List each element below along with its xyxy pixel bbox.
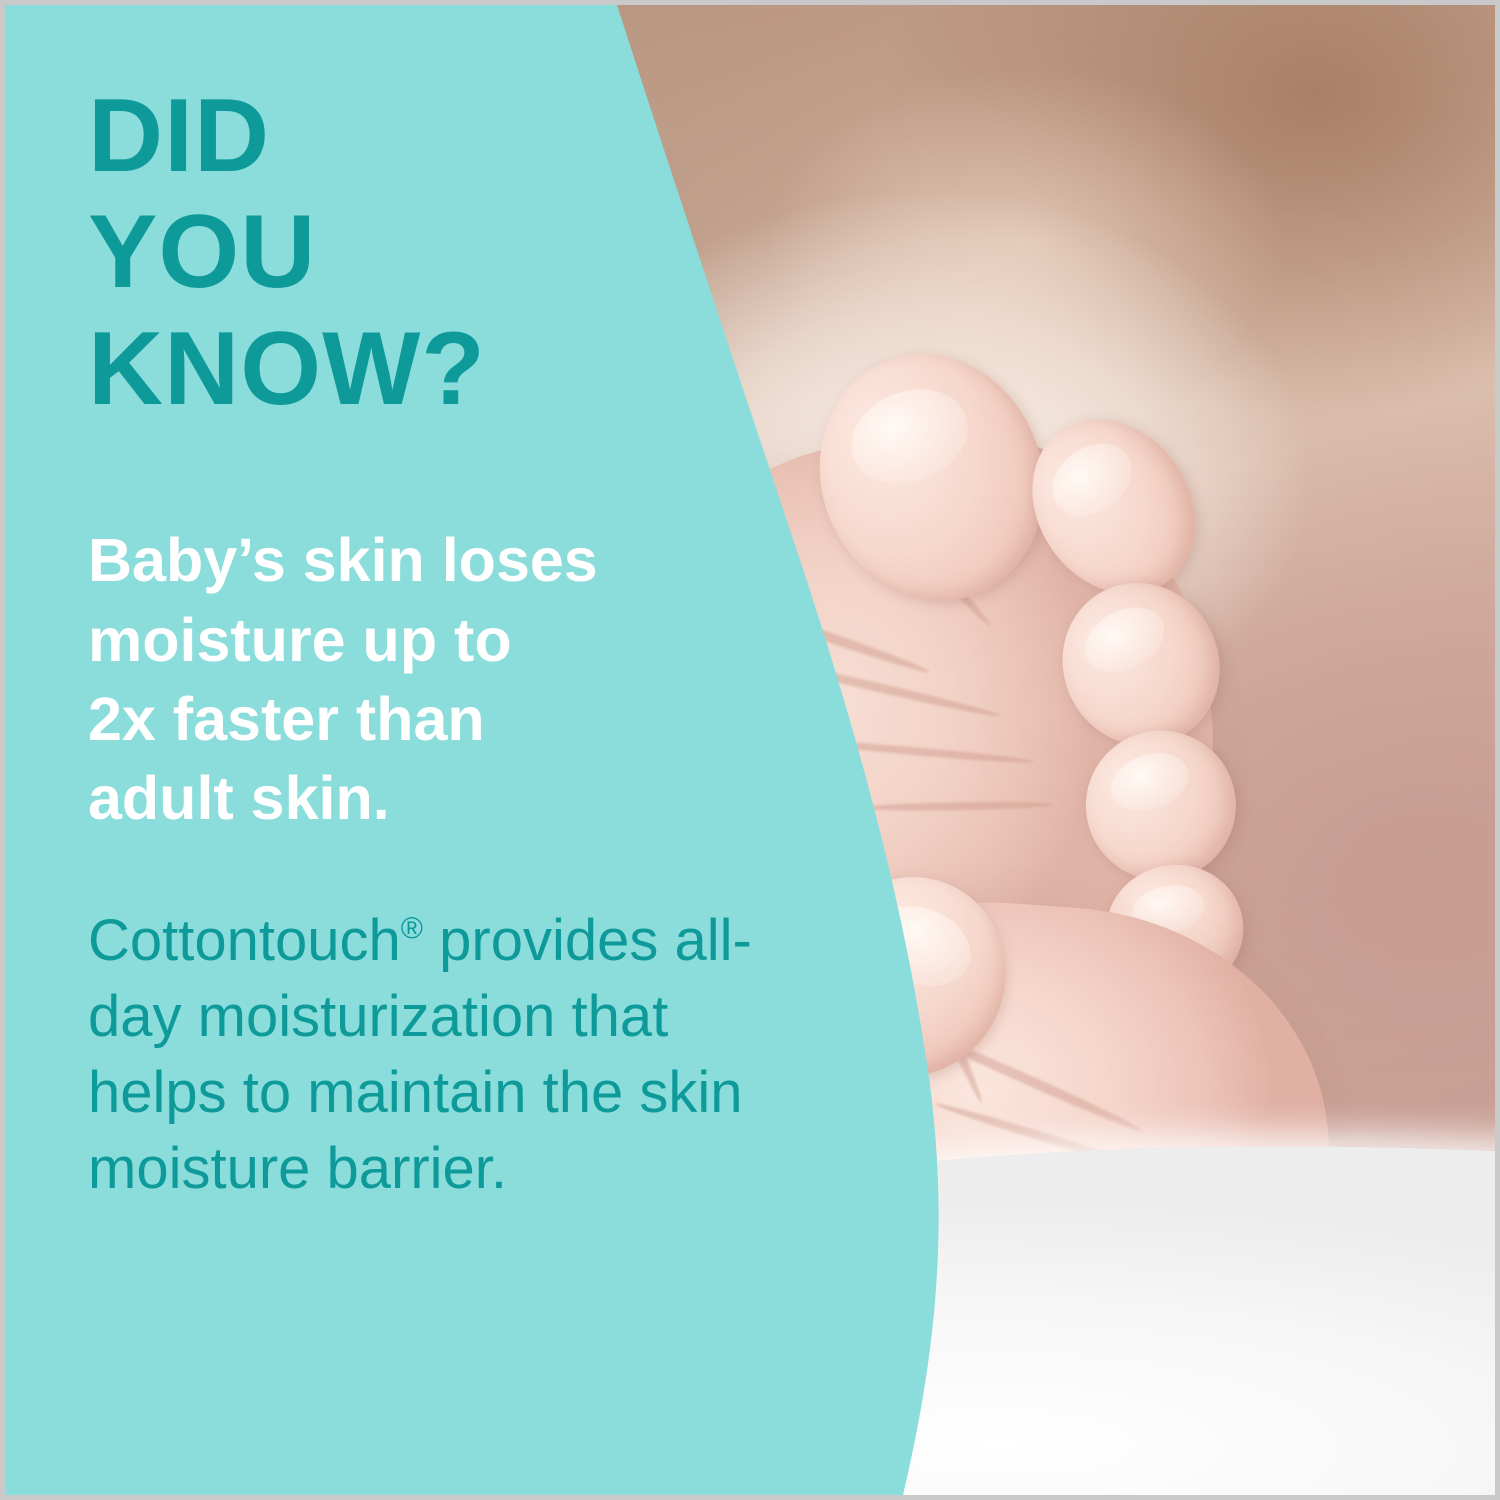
product-infographic-card: DID YOU KNOW? Baby’s skin loses moisture… bbox=[0, 0, 1500, 1500]
brand-name: Cottontouch bbox=[88, 908, 401, 973]
brand-claim: Cottontouch® provides all-day moisturiza… bbox=[88, 839, 818, 1207]
registered-trademark-icon: ® bbox=[401, 912, 423, 945]
headline: DID YOU KNOW? bbox=[88, 78, 818, 427]
fact-statement: Baby’s skin loses moisture up to 2x fast… bbox=[88, 427, 818, 838]
text-block: DID YOU KNOW? Baby’s skin loses moisture… bbox=[88, 78, 818, 1206]
